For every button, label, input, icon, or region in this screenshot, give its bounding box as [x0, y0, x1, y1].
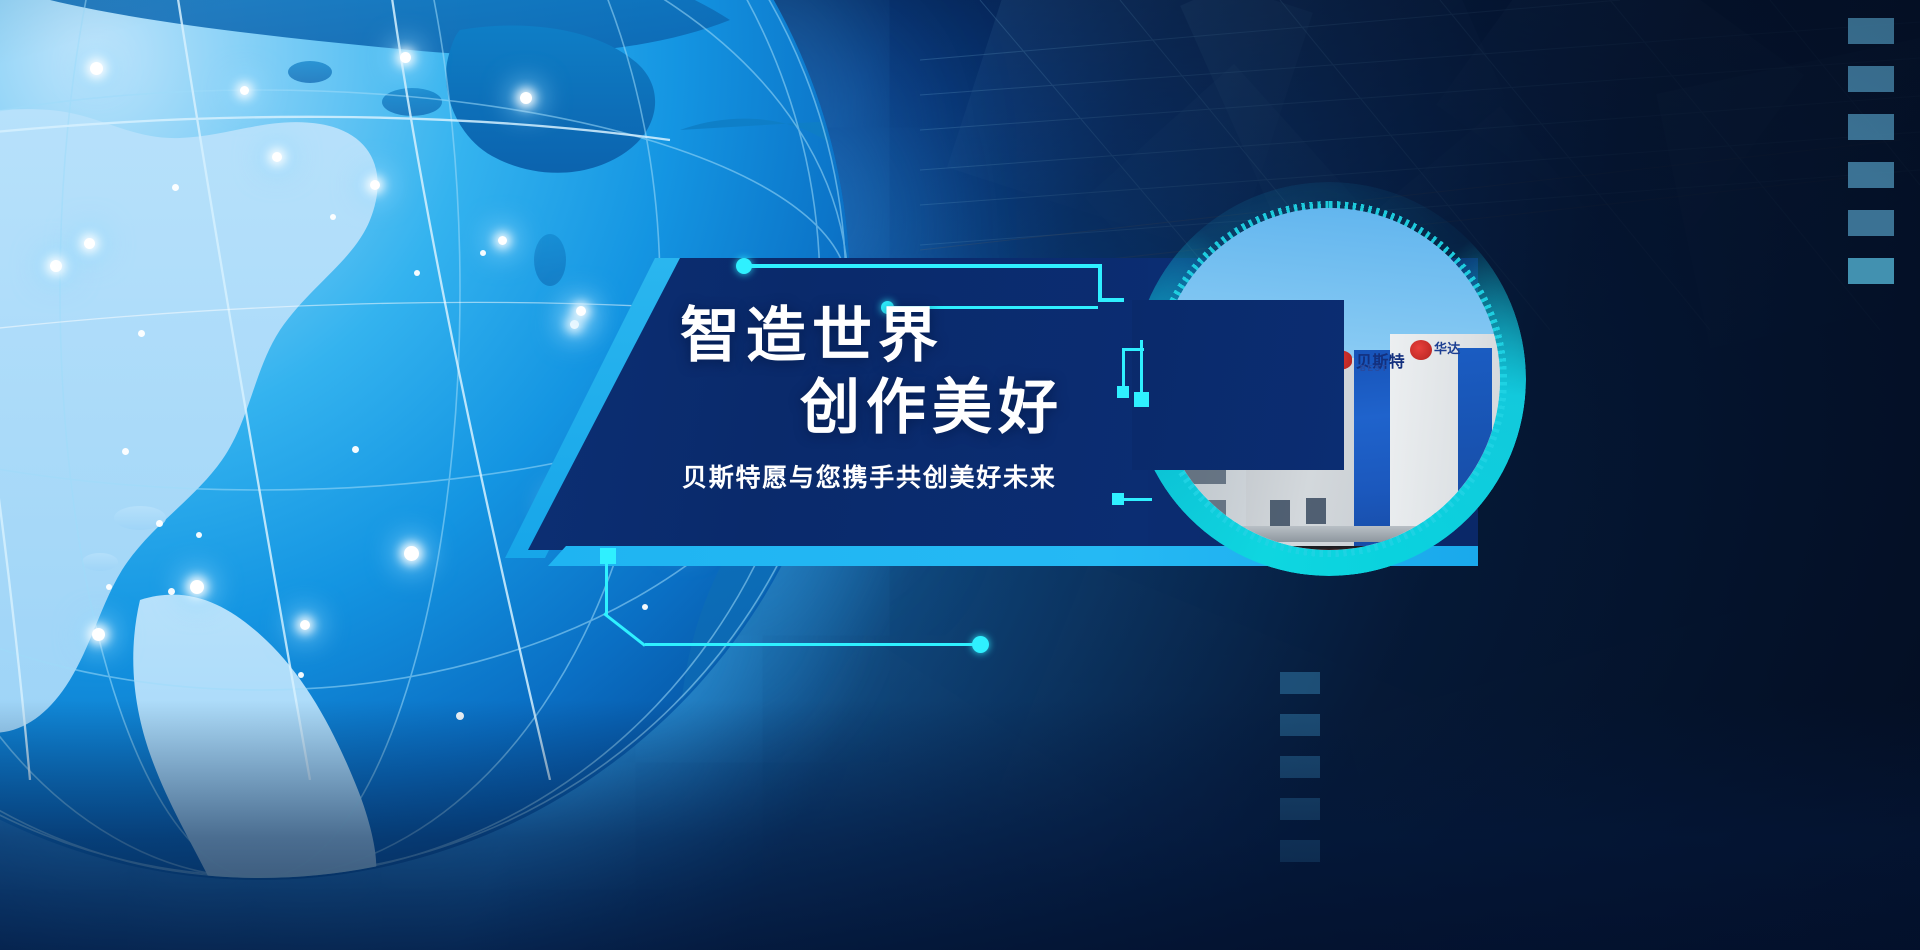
- light-spark: [84, 238, 95, 249]
- circuit-dot-top: [736, 258, 752, 274]
- network-node: [570, 320, 579, 329]
- circuit-line-bottom-h: [645, 643, 985, 646]
- entrance-canopy: [1236, 526, 1422, 542]
- dash-mark: [1280, 714, 1320, 736]
- headline-line-2: 创作美好: [800, 378, 1064, 438]
- dash-marks-center: [1280, 672, 1320, 882]
- light-spark: [520, 92, 532, 104]
- building-window: [1164, 500, 1226, 520]
- ring-circuit-h1: [1122, 348, 1144, 351]
- network-node: [190, 580, 204, 594]
- light-dot: [156, 520, 163, 527]
- dash-mark: [1280, 672, 1320, 694]
- light-spark: [90, 62, 103, 75]
- circuit-line-bottom-v: [605, 562, 608, 614]
- dash-mark: [1848, 114, 1894, 140]
- ring-panel-overlap-mask: [1132, 300, 1344, 470]
- light-dot: [414, 270, 420, 276]
- dash-mark: [1848, 162, 1894, 188]
- dash-mark: [1848, 18, 1894, 44]
- dash-mark: [1280, 756, 1320, 778]
- dash-mark: [1280, 798, 1320, 820]
- led-banner: 热烈欢迎各位领导莅临: [1254, 546, 1404, 550]
- banner-stage: 智造世界 创作美好 贝斯特愿与您携手共创美好未来 贝斯特: [0, 0, 1920, 950]
- light-dot: [330, 214, 336, 220]
- light-spark: [498, 236, 507, 245]
- light-spark: [300, 620, 310, 630]
- led-banner-text: 热烈欢迎各位领导莅临: [1260, 548, 1360, 550]
- tech-circle-ring: 贝斯特 BEST 华达 热烈欢迎各位领导莅临: [1132, 182, 1526, 576]
- light-spark: [240, 86, 249, 95]
- light-dot: [106, 584, 112, 590]
- light-dot: [298, 672, 304, 678]
- dash-mark: [1848, 210, 1894, 236]
- banner-subtitle: 贝斯特愿与您携手共创美好未来: [682, 458, 1057, 494]
- roof-logo-mark-primary: [1410, 340, 1432, 360]
- building-window: [1306, 498, 1326, 524]
- circuit-line-top: [746, 264, 1102, 268]
- circuit-line-top-tail: [1098, 298, 1124, 302]
- dash-mark: [1280, 840, 1320, 862]
- roof-sign-secondary: 华达: [1434, 338, 1461, 357]
- network-node: [50, 260, 62, 272]
- network-node: [370, 180, 380, 190]
- light-spark: [272, 152, 282, 162]
- light-spark: [400, 52, 411, 63]
- light-dot: [138, 330, 145, 337]
- light-dot: [168, 588, 175, 595]
- dash-mark: [1848, 66, 1894, 92]
- building-window: [1270, 500, 1290, 526]
- roof-sign-sub: BEST: [1360, 364, 1388, 373]
- building-window: [1164, 536, 1226, 550]
- ring-circuit-square-2: [1134, 392, 1149, 407]
- dash-marks-right: [1848, 18, 1894, 306]
- circuit-square-bottom: [600, 548, 616, 564]
- circuit-dot-bottom: [972, 636, 989, 653]
- dash-mark: [1848, 258, 1894, 284]
- light-dot: [480, 250, 486, 256]
- light-dot: [352, 446, 359, 453]
- light-dot: [196, 532, 202, 538]
- light-spark: [576, 306, 586, 316]
- circuit-line-top-elbow: [1098, 264, 1102, 302]
- light-spark: [92, 628, 105, 641]
- building-glass-curtain-right: [1458, 348, 1492, 548]
- light-dot: [122, 448, 129, 455]
- light-dot: [456, 712, 464, 720]
- headline-line-1: 智造世界: [680, 306, 944, 366]
- ring-circuit-square-1: [1117, 386, 1129, 398]
- light-spark: [404, 546, 419, 561]
- light-dot: [642, 604, 648, 610]
- ring-circuit-square-3: [1112, 493, 1124, 505]
- light-dot: [172, 184, 179, 191]
